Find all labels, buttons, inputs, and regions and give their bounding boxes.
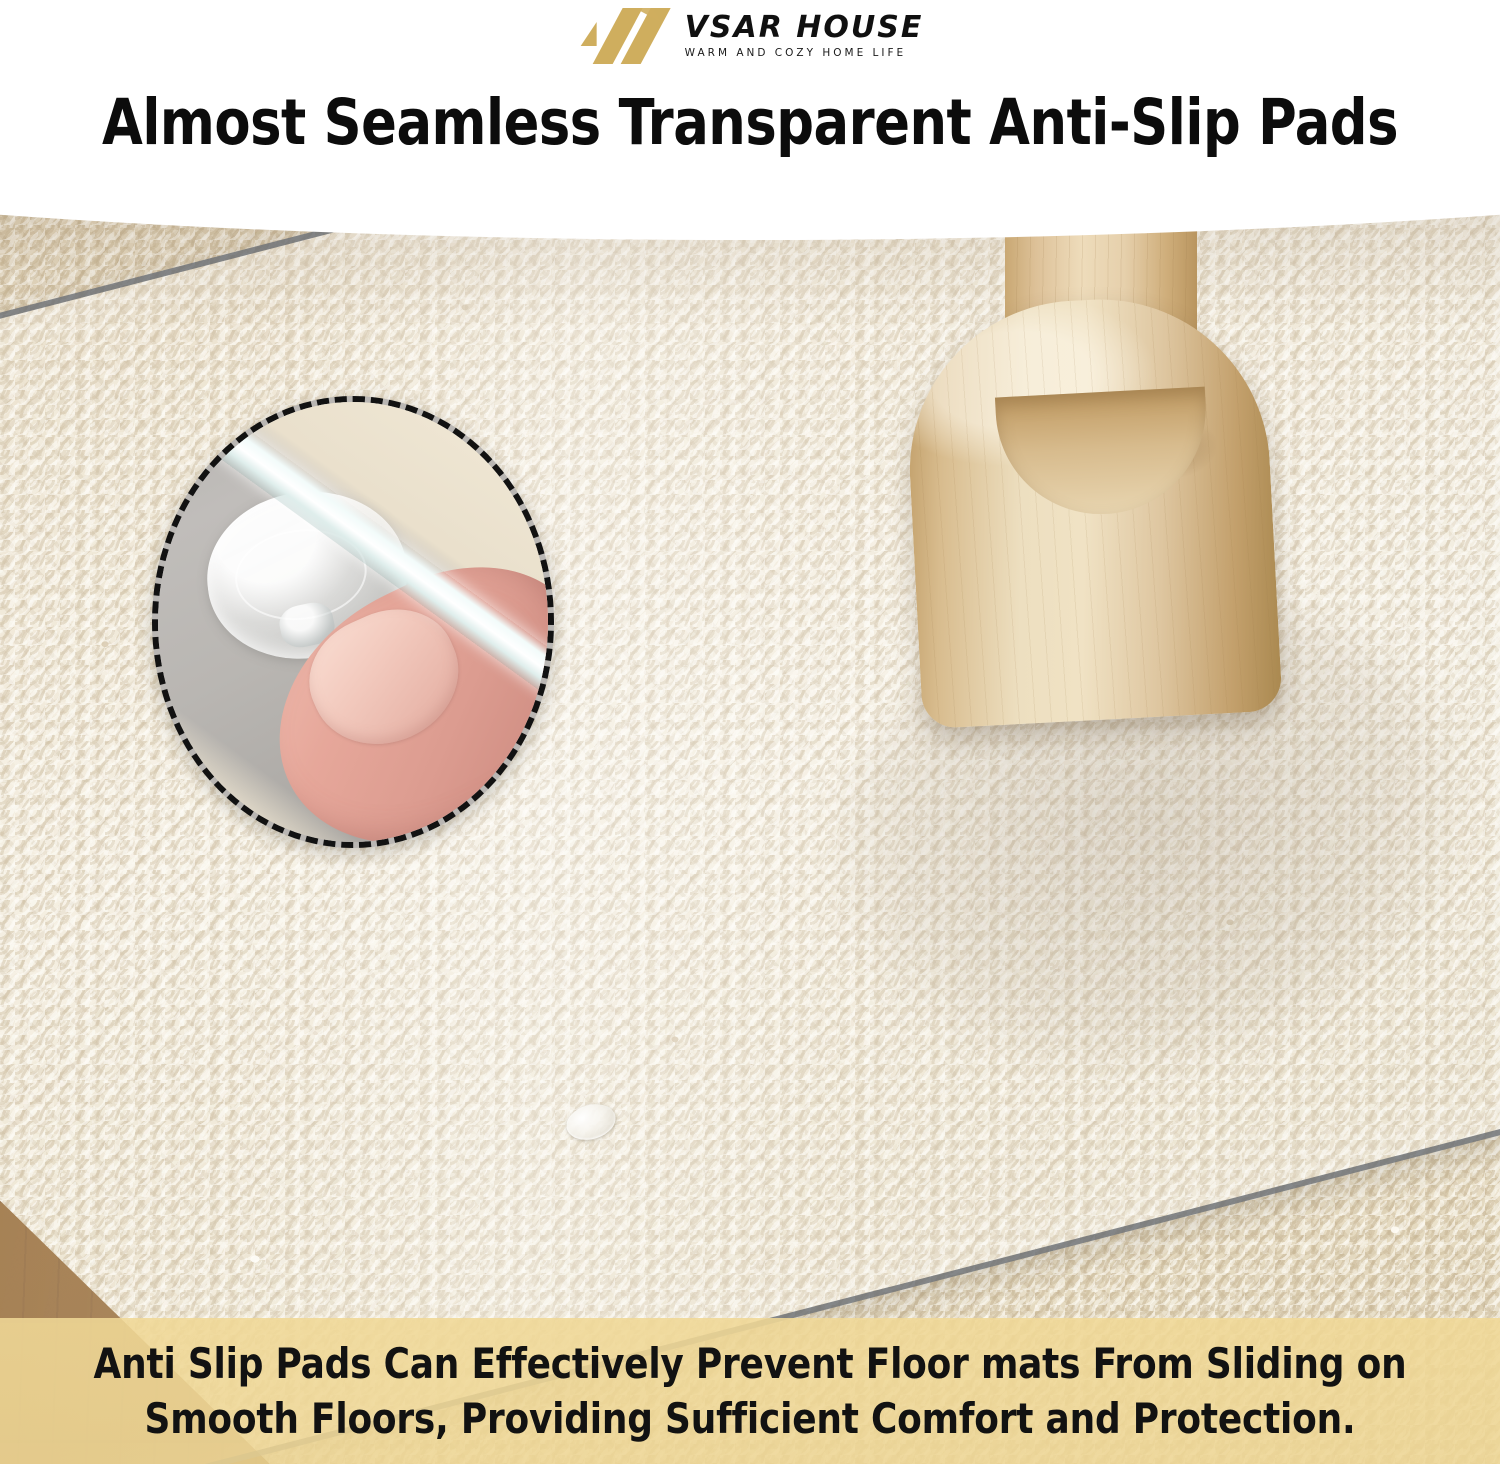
brand-tagline: WARM AND COZY HOME LIFE (685, 48, 924, 59)
product-feature-image: VSAR HOUSE WARM AND COZY HOME LIFE Almos… (0, 0, 1500, 1464)
caption-line-1: Anti Slip Pads Can Effectively Prevent F… (94, 1339, 1407, 1388)
brand-wordmark: VSAR HOUSE WARM AND COZY HOME LIFE (685, 13, 924, 59)
page-title: Almost Seamless Transparent Anti-Slip Pa… (53, 86, 1448, 159)
caption-line-2: Smooth Floors, Providing Sufficient Comf… (145, 1394, 1356, 1443)
brand-logo: VSAR HOUSE WARM AND COZY HOME LIFE (577, 6, 924, 66)
brand-name: VSAR HOUSE (685, 13, 924, 43)
magnifier-callout (152, 396, 554, 848)
magnifier-callout-inner (152, 396, 554, 848)
caption-band: Anti Slip Pads Can Effectively Prevent F… (0, 1318, 1500, 1464)
header-band: VSAR HOUSE WARM AND COZY HOME LIFE Almos… (0, 0, 1500, 260)
caption-text: Anti Slip Pads Can Effectively Prevent F… (38, 1318, 1463, 1464)
gold-diagonal-stripes-logo-icon (577, 6, 675, 66)
